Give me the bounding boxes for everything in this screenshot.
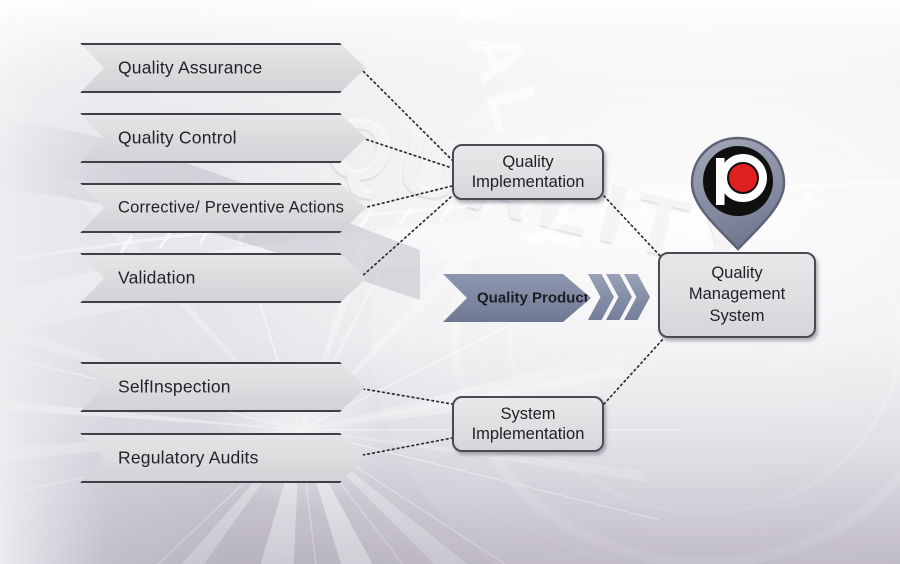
node-label: System Implementation: [466, 404, 591, 444]
connector-qi-to-qms: [604, 196, 664, 260]
input-arrow-validation[interactable]: Validation: [80, 253, 366, 303]
input-arrow-label: Quality Assurance: [118, 58, 336, 79]
product-arrow-quality-product[interactable]: Quality Product: [443, 274, 591, 322]
input-arrow-label: Regulatory Audits: [118, 448, 336, 469]
node-system-implementation[interactable]: System Implementation: [452, 396, 604, 452]
connector-qc-to-qi: [362, 138, 452, 168]
logo-red-dot: [729, 164, 757, 192]
input-arrow-quality-assurance[interactable]: Quality Assurance: [80, 43, 366, 93]
connector-selfinsp-to-si: [358, 388, 452, 404]
diagram-canvas: QUALITY QUALITY Quality Assurance Qualit…: [0, 0, 900, 564]
input-arrow-regulatory-audits[interactable]: Regulatory Audits: [80, 433, 366, 483]
input-arrow-label: Quality Control: [118, 128, 336, 149]
input-arrow-quality-control[interactable]: Quality Control: [80, 113, 366, 163]
map-pin-logo: [688, 136, 788, 252]
node-label: Quality Implementation: [466, 152, 591, 192]
node-label-line1: Quality: [502, 153, 553, 171]
node-quality-implementation[interactable]: Quality Implementation: [452, 144, 604, 200]
input-arrow-self-inspection[interactable]: SelfInspection: [80, 362, 366, 412]
node-label: Quality Management System: [683, 263, 791, 326]
node-label-line2: Management: [689, 285, 785, 303]
input-arrow-label: SelfInspection: [118, 377, 336, 398]
connector-si-to-qms: [604, 338, 664, 404]
connector-validation-to-qi: [360, 196, 452, 278]
input-arrow-label: Validation: [118, 268, 336, 289]
node-label-line1: System: [500, 405, 555, 423]
input-arrow-label: Corrective/ Preventive Actions: [118, 199, 336, 218]
node-label-line3: System: [709, 307, 764, 325]
node-quality-management-system[interactable]: Quality Management System: [658, 252, 816, 338]
product-arrow-label: Quality Product: [477, 290, 561, 307]
connector-capa-to-qi: [363, 186, 452, 208]
node-label-line1: Quality: [711, 264, 762, 282]
connector-audits-to-si: [358, 438, 452, 456]
node-label-line2: Implementation: [472, 173, 585, 191]
input-arrow-corrective-preventive-actions[interactable]: Corrective/ Preventive Actions: [80, 183, 366, 233]
connector-qa-to-qi: [360, 68, 452, 160]
node-label-line2: Implementation: [472, 425, 585, 443]
